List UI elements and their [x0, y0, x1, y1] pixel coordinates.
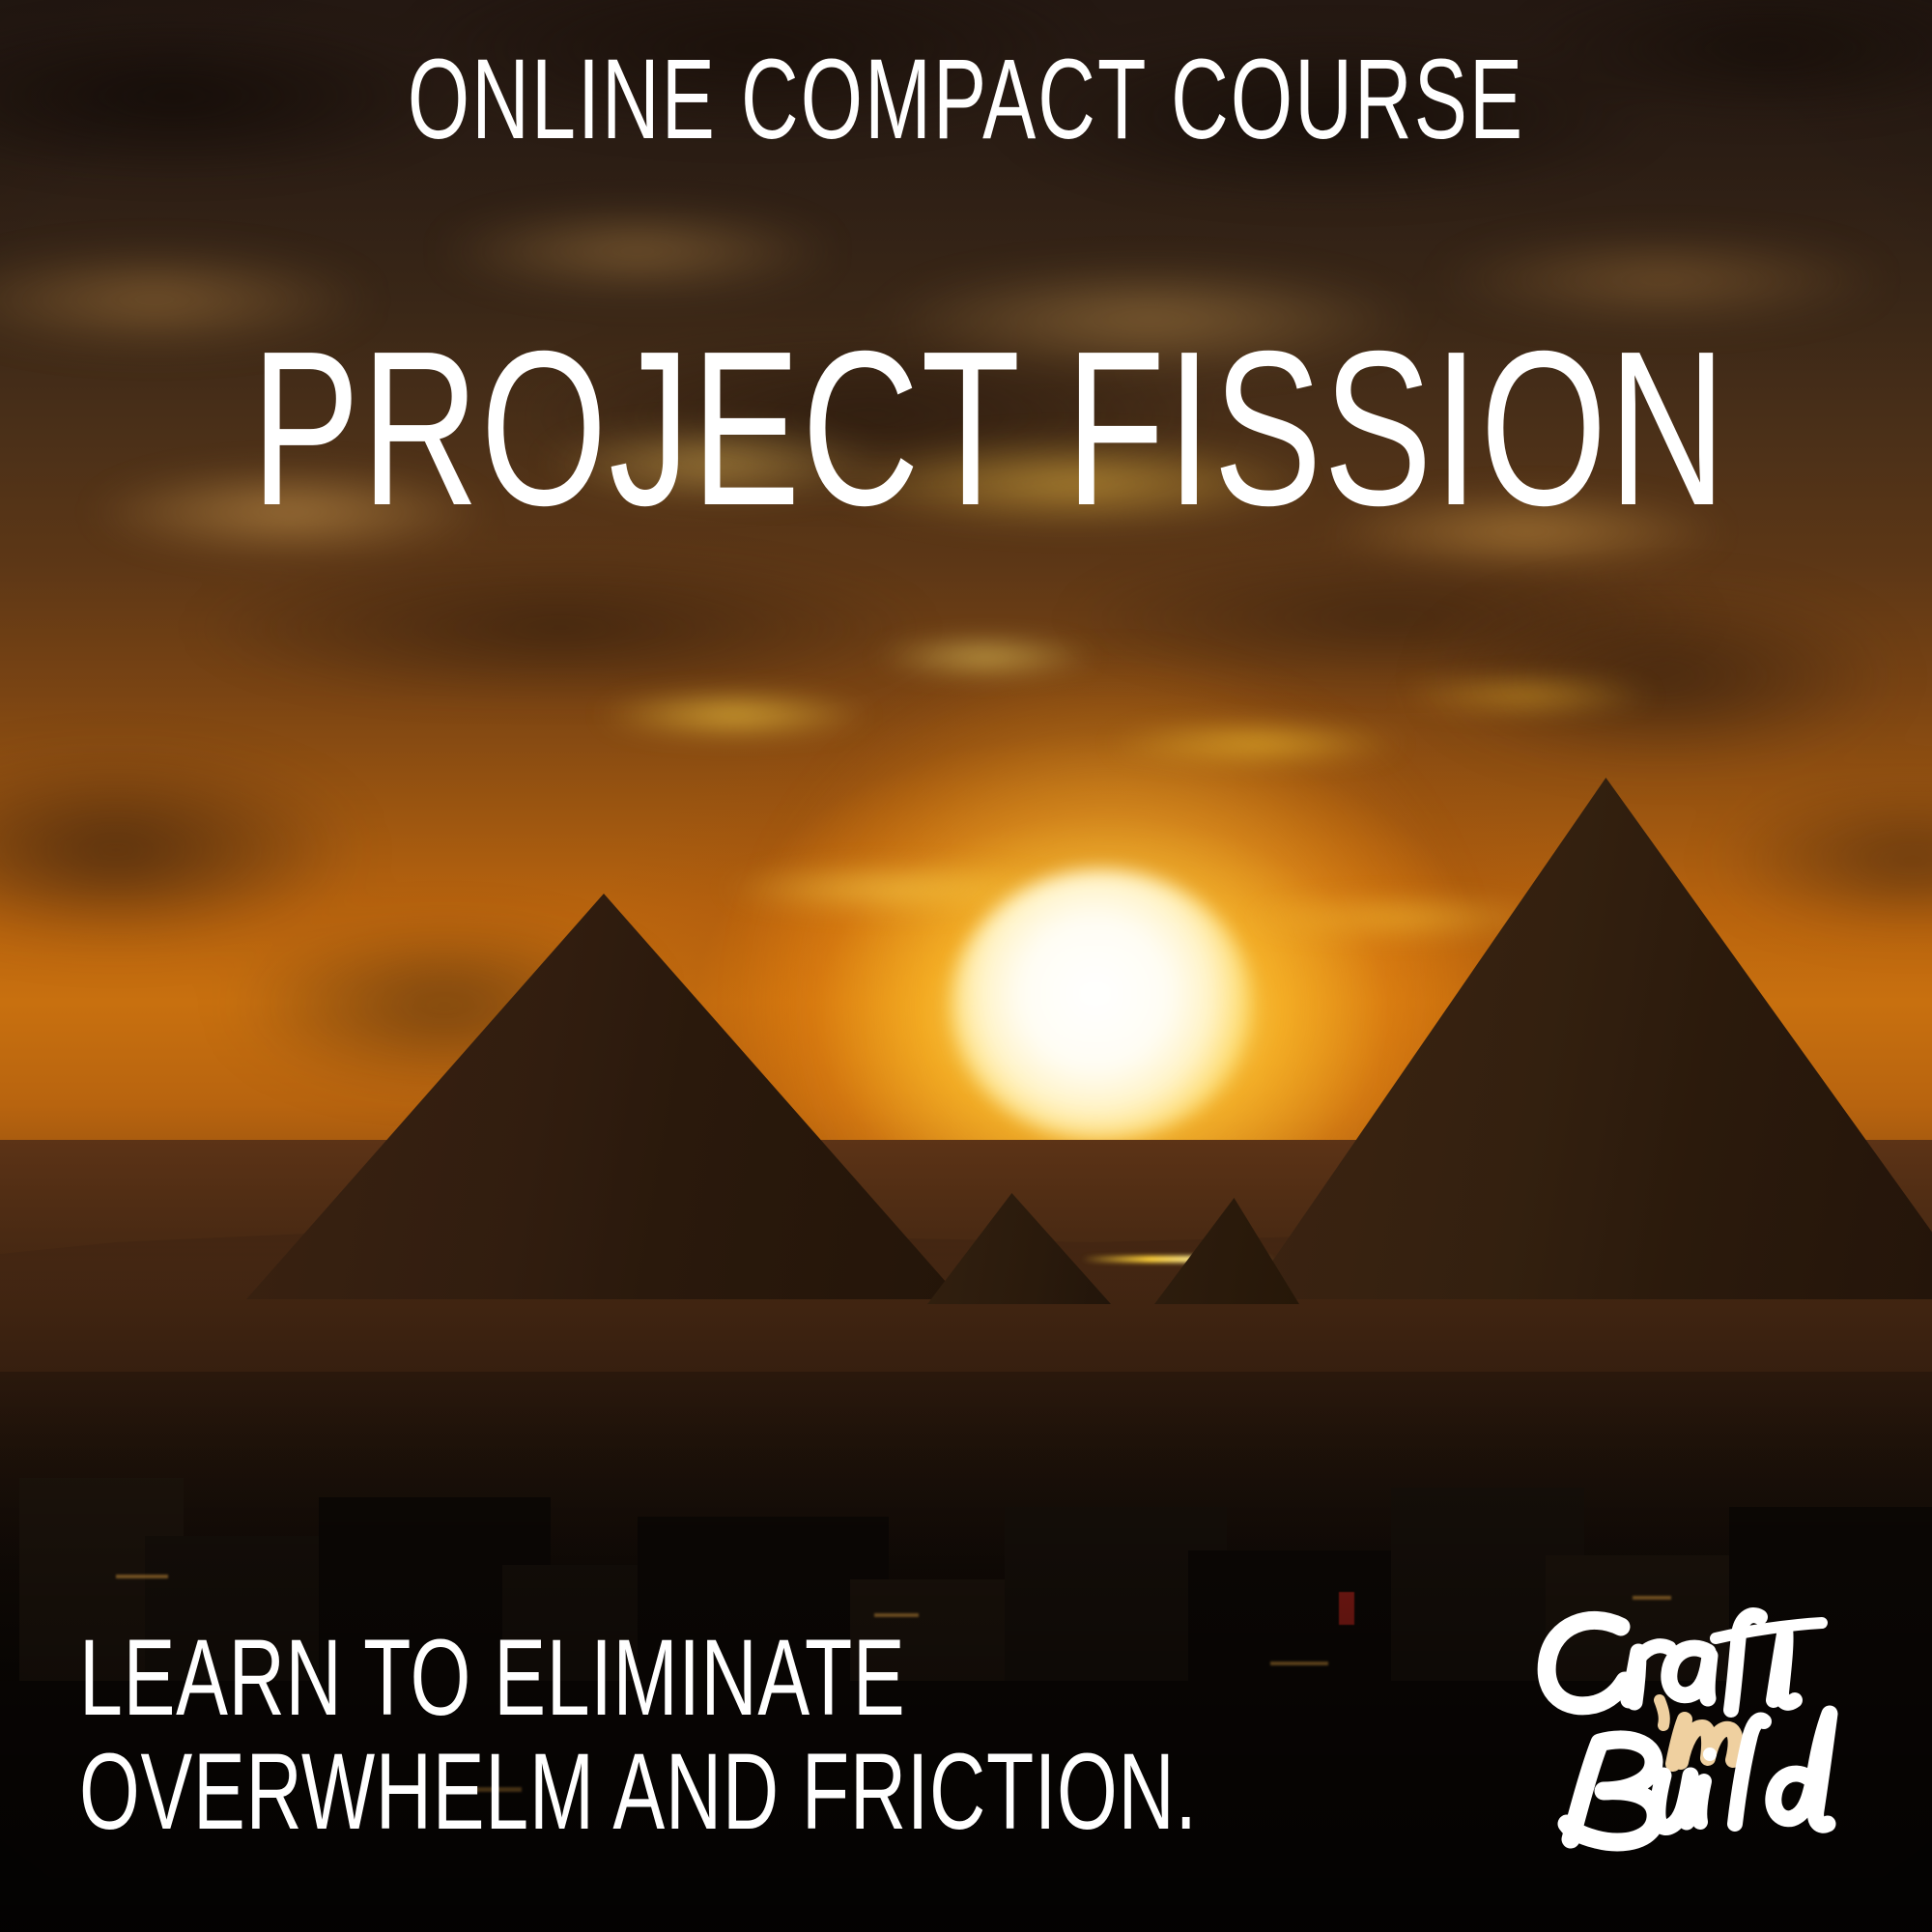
tagline: LEARN TO ELIMINATE OVERWHELM AND FRICTIO… — [79, 1621, 1451, 1849]
sun-disc — [952, 869, 1251, 1140]
craft-n-build-logo-icon — [1507, 1592, 1913, 1882]
rooftop-flag — [1339, 1592, 1354, 1625]
tagline-line-2: OVERWHELM AND FRICTION. — [79, 1735, 1066, 1849]
brand-logo: Craft 'n Build — [1507, 1592, 1913, 1882]
tagline-line-1: LEARN TO ELIMINATE — [79, 1621, 1066, 1735]
course-eyebrow-label: ONLINE COMPACT COURSE — [290, 43, 1642, 156]
window-light — [116, 1575, 168, 1578]
course-promo-poster: ONLINE COMPACT COURSE PROJECT FISSION LE… — [0, 0, 1932, 1932]
page-title: PROJECT FISSION — [251, 319, 1681, 539]
